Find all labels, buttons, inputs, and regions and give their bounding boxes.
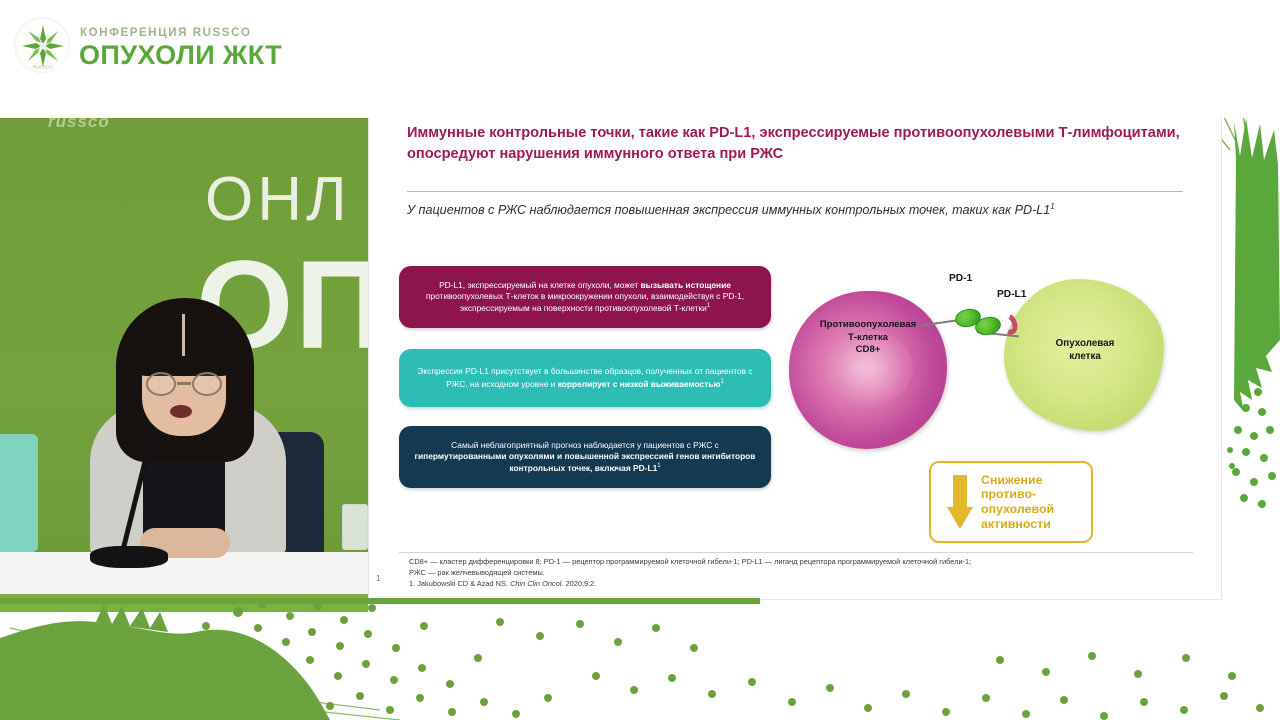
title-divider [407,191,1183,192]
footnote-reference-authors: 1. Jakubowski CD & Azad NS. [409,579,510,588]
slide-subtitle: У пациентов с РЖС наблюдается повышенная… [407,201,1197,220]
footnote-reference: 1. Jakubowski CD & Azad NS. Chin Clin On… [409,578,1209,589]
antitumor-decrease-text: Снижениепротиво-опухолевойактивности [981,473,1054,532]
footnote-reference-journal: Chin Clin Oncol. [510,579,563,588]
speaker-hair-part [182,314,185,356]
footnote-block: CD8+ — кластер дифференцировки 8; PD-1 —… [409,556,1209,589]
brand-kicker: КОНФЕРЕНЦИЯ RUSSCO [80,27,252,39]
backdrop-line-1: ОНЛ [205,164,351,235]
starburst-logo-icon: RUSSCO [14,17,70,73]
message-box-navy-text: Самый неблагоприятный прогноз наблюдаетс… [410,440,760,475]
message-box-magenta: PD-L1, экспрессируемый на клетке опухоли… [399,266,771,328]
water-glass [342,504,368,550]
slide-viewer: RUSSCO КОНФЕРЕНЦИЯ RUSSCO ОПУХОЛИ ЖКТ ru… [0,0,1280,720]
footnote-reference-details: 2020;9:2. [563,579,596,588]
slide-title: Иммунные контрольные точки, такие как PD… [407,123,1187,164]
speaker-video-panel[interactable]: russco ОНЛ ОП [0,118,368,612]
message-box-teal: Экспрессия PD-L1 присутствует в большинс… [399,349,771,407]
conference-branding-bar: RUSSCO КОНФЕРЕНЦИЯ RUSSCO ОПУХОЛИ ЖКТ [0,0,1280,118]
message-box-navy: Самый неблагоприятный прогноз наблюдаетс… [399,426,771,488]
footnote-line-2: РЖС — рак желчевыводящей системы. [409,567,1209,578]
speaker-glasses [144,372,224,396]
message-box-magenta-text: PD-L1, экспрессируемый на клетке опухоли… [410,280,760,315]
table-flag [0,434,38,552]
brand-title: ОПУХОЛИ ЖКТ [79,40,282,71]
presentation-slide: Иммунные контрольные точки, такие как PD… [368,110,1222,600]
decorative-splash-bottom [0,598,1280,720]
slide-subtitle-ref: 1 [1050,202,1054,211]
speaker-mouth [170,405,192,418]
svg-text:RUSSCO: RUSSCO [33,65,53,70]
cell-interaction-diagram: ПротивоопухолеваяТ-клеткаCD8+ Опухолевая… [789,261,1209,541]
footnote-line-1: CD8+ — кластер дифференцировки 8; PD-1 —… [409,556,1209,567]
t-cell-shape [789,291,947,449]
slide-page-number: 1 [376,574,380,583]
slide-subtitle-text: У пациентов с РЖС наблюдается повышенная… [407,203,1050,217]
down-arrow-icon [947,475,973,529]
pdl1-label: PD-L1 [997,289,1026,300]
pd1-label: PD-1 [949,273,972,284]
antitumor-decrease-callout: Снижениепротиво-опухолевойактивности [929,461,1093,543]
desk-front-edge [0,594,368,612]
message-box-teal-text: Экспрессия PD-L1 присутствует в большинс… [410,366,760,389]
footnote-divider [399,552,1193,553]
tumor-cell-label: Опухолеваяклетка [1027,337,1143,363]
microphone-base [90,546,168,568]
backdrop-russco-text: russco [48,118,110,132]
